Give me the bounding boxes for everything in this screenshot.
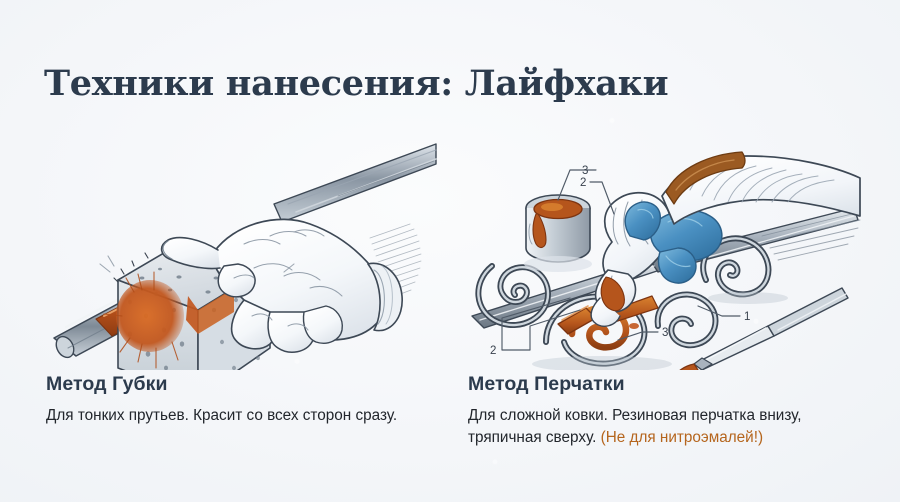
callout-3-painted-curl: 3 xyxy=(662,327,668,339)
callout-2-cloth-glove: 2 xyxy=(580,177,586,189)
glove-scene: 3 2 1 2 3 xyxy=(472,152,860,370)
callout-2-scroll-base: 2 xyxy=(490,345,496,357)
paint-can xyxy=(524,195,592,272)
caption-warning-glove: (Не для нитроэмалей!) xyxy=(601,429,763,446)
illustration-glove-method: 3 2 1 2 3 xyxy=(462,120,862,370)
callout-1-scroll: 1 xyxy=(744,311,750,323)
caption-sponge-method: Метод Губки Для тонких прутьев. Красит с… xyxy=(46,374,436,427)
caption-title-glove: Метод Перчатки xyxy=(468,374,858,395)
illustration-sponge-method xyxy=(38,120,438,370)
knit-cuff-forearm xyxy=(662,152,860,224)
caption-body-sponge: Для тонких прутьев. Красит со всех сторо… xyxy=(46,405,428,427)
sponge-scene xyxy=(53,144,436,370)
slide-canvas: Техники нанесения: Лайфхаки xyxy=(0,0,900,502)
callout-3-can: 3 xyxy=(582,165,588,177)
caption-body-glove: Для сложной ковки. Резиновая перчатка вн… xyxy=(468,405,850,448)
background-bar xyxy=(274,144,436,222)
page-title: Техники нанесения: Лайфхаки xyxy=(44,63,668,104)
caption-body-lead-sponge: Для тонких прутьев. Красит со всех сторо… xyxy=(46,407,397,424)
caption-title-sponge: Метод Губки xyxy=(46,374,436,395)
brush-bristles xyxy=(674,364,698,370)
caption-glove-method: Метод Перчатки Для сложной ковки. Резино… xyxy=(468,374,858,449)
sponge-method-drawing xyxy=(38,120,438,370)
glove-method-drawing: 3 2 1 2 3 xyxy=(462,120,862,370)
paint-droplet xyxy=(629,323,639,329)
